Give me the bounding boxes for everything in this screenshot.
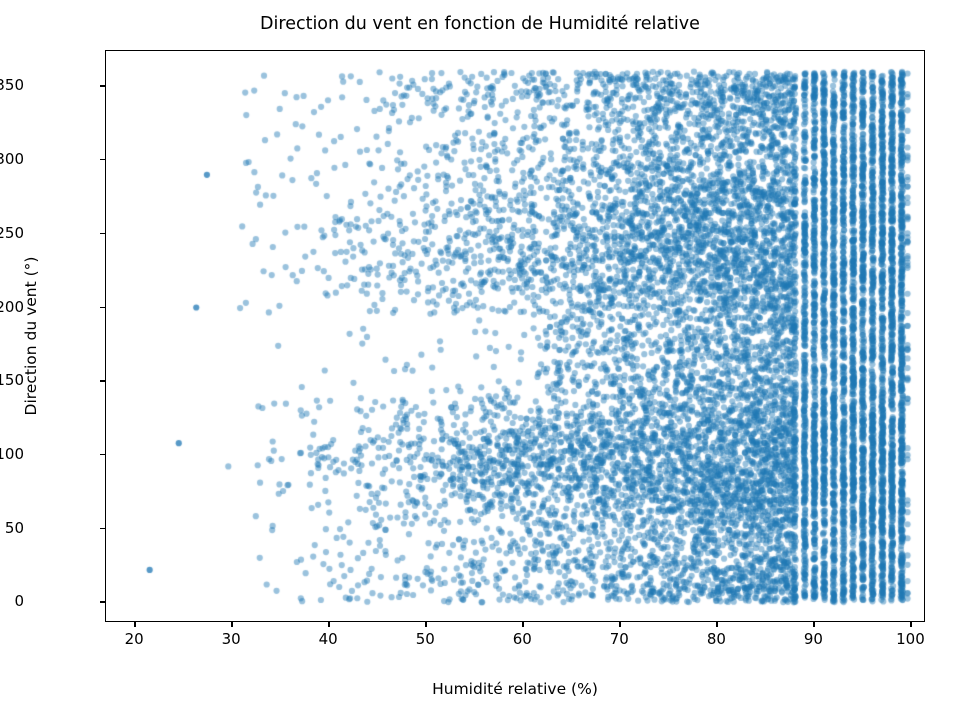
x-tick-mark [716, 621, 717, 627]
x-tick-mark [231, 621, 232, 627]
chart-title: Direction du vent en fonction de Humidit… [0, 14, 960, 34]
y-tick-label: 300 [0, 150, 24, 168]
y-tick-mark [100, 307, 106, 308]
x-tick-mark [425, 621, 426, 627]
x-tick-label: 90 [768, 630, 858, 648]
y-tick-mark [100, 380, 106, 381]
y-tick-mark [100, 159, 106, 160]
x-tick-mark [522, 621, 523, 627]
x-tick-label: 50 [380, 630, 470, 648]
x-axis-label: Humidité relative (%) [105, 680, 925, 698]
y-tick-label: 350 [0, 76, 24, 94]
y-tick-label: 200 [0, 298, 24, 316]
x-tick-mark [910, 621, 911, 627]
plot-area [105, 50, 925, 622]
x-tick-label: 40 [283, 630, 373, 648]
x-tick-label: 100 [865, 630, 955, 648]
scatter-plot-canvas [106, 51, 925, 622]
x-tick-label: 70 [574, 630, 664, 648]
y-tick-label: 0 [0, 592, 24, 610]
y-axis-label: Direction du vent (°) [22, 50, 44, 622]
y-tick-mark [100, 601, 106, 602]
x-tick-label: 30 [186, 630, 276, 648]
x-tick-mark [813, 621, 814, 627]
y-tick-mark [100, 454, 106, 455]
y-tick-label: 100 [0, 445, 24, 463]
x-tick-label: 60 [477, 630, 567, 648]
figure-canvas: Direction du vent en fonction de Humidit… [0, 0, 960, 720]
x-tick-label: 80 [671, 630, 761, 648]
y-tick-mark [100, 233, 106, 234]
x-tick-mark [328, 621, 329, 627]
y-tick-label: 50 [0, 519, 24, 537]
x-tick-label: 20 [89, 630, 179, 648]
x-tick-mark [134, 621, 135, 627]
y-tick-mark [100, 528, 106, 529]
y-tick-label: 150 [0, 371, 24, 389]
y-tick-label: 250 [0, 224, 24, 242]
x-tick-mark [619, 621, 620, 627]
y-tick-mark [100, 85, 106, 86]
